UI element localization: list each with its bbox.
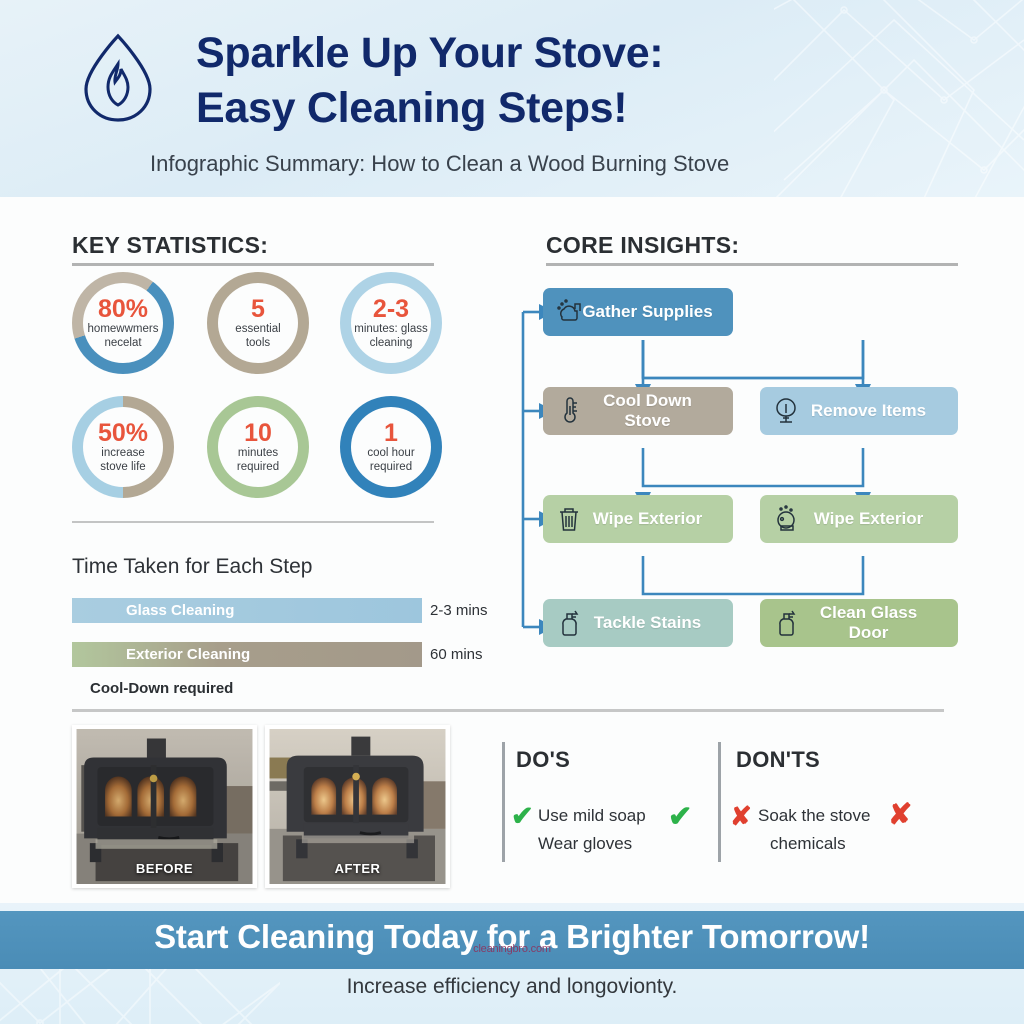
stat-donut-5-value: 1 [384,420,398,446]
stat-donut-2-value: 2-3 [373,296,409,322]
spray-bottle-icon [556,608,582,638]
chart-title: Time Taken for Each Step [72,555,312,579]
photo-before: BEFORE [72,725,257,888]
flow-step-cool-down-stove[interactable]: Cool Down Stove [543,387,733,435]
donts-divider [718,742,721,862]
dos-check-icon-right: ✔ [668,799,692,834]
flame-droplet-icon [78,32,158,124]
stat-donut-4: 10 minutes required [207,396,309,498]
bar-label-0: Glass Cleaning [126,598,234,623]
photo-after-caption: AFTER [269,861,446,876]
stat-donut-2-inner: 2-3 minutes: glass cleaning [351,283,431,363]
flow-step-wipe-exterior-right[interactable]: Wipe Exterior [760,495,958,543]
flow-step-tackle-stains-label: Tackle Stains [582,613,733,633]
stat-donut-3: 50% increase stove life [72,396,174,498]
stats-bottom-rule [72,521,434,523]
header-banner: Sparkle Up Your Stove: Easy Cleaning Ste… [0,0,1024,197]
stat-donut-0-label1: homewwmers [88,323,159,336]
stat-donut-2-label1: minutes: glass [354,323,428,336]
stat-donut-4-inner: 10 minutes required [218,407,298,487]
donts-cross-icon-right: ✘ [888,797,912,832]
page-title-line2: Easy Cleaning Steps! [196,81,986,136]
flow-step-wipe-exterior-left[interactable]: Wipe Exterior [543,495,733,543]
stat-donut-4-value: 10 [244,420,272,446]
page-title-line1: Sparkle Up Your Stove: [196,29,663,77]
bar-label-1: Exterior Cleaning [126,642,250,667]
stat-donut-1-label2: tools [246,337,270,350]
watermark: cleaningbro.com [0,943,1024,955]
flow-step-gather-supplies[interactable]: Gather Supplies [543,288,733,336]
bubble-sparkle-icon [773,504,799,534]
stat-donut-1-label1: essential [235,323,280,336]
stat-donut-3-label1: increase [101,447,144,460]
core-insights-rule [546,263,958,266]
dos-divider [502,742,505,862]
key-statistics-rule [72,263,434,266]
stat-donut-1-value: 5 [251,296,265,322]
stat-donut-0-value: 80% [98,296,148,322]
mid-divider-rule [72,709,944,712]
stat-donut-3-value: 50% [98,420,148,446]
lamp-icon [773,396,799,426]
sponge-sparkle-icon [556,297,582,327]
stat-donut-4-label1: minutes [238,447,278,460]
flow-step-wipe-exterior-left-label: Wipe Exterior [582,509,733,529]
stat-donut-5-inner: 1 cool hour required [351,407,431,487]
bar-row-0 [72,598,422,623]
donts-item-1: chemicals [770,834,846,854]
dos-item-0: Use mild soap [538,806,646,826]
flow-step-tackle-stains[interactable]: Tackle Stains [543,599,733,647]
dos-heading: DO'S [516,747,570,773]
bar-value-1: 60 mins [430,642,483,667]
flow-step-clean-glass-door-label: Clean Glass Door [799,603,958,643]
key-statistics-heading: KEY STATISTICS: [72,232,268,259]
stat-donut-0-label2: necelat [104,337,141,350]
donts-cross-icon-left: ✘ [730,801,752,832]
chart-note: Cool-Down required [90,680,233,697]
flow-step-gather-supplies-label: Gather Supplies [582,302,733,322]
stat-donut-5-label2: required [370,461,412,474]
trash-bin-icon [556,504,582,534]
stat-donut-0-inner: 80% homewwmers necelat [83,283,163,363]
stat-donut-1-inner: 5 essential tools [218,283,298,363]
flow-step-remove-items[interactable]: Remove Items [760,387,958,435]
page-subtitle: Infographic Summary: How to Clean a Wood… [150,151,910,177]
footer-subtext: Increase efficiency and longovionty. [0,975,1024,999]
dos-check-icon-left: ✔ [511,801,534,832]
flow-step-clean-glass-door[interactable]: Clean Glass Door [760,599,958,647]
photo-after: AFTER [265,725,450,888]
bar-value-0: 2-3 mins [430,598,488,623]
dos-item-1: Wear gloves [538,834,632,854]
page-title: Sparkle Up Your Stove: Easy Cleaning Ste… [196,26,986,136]
donts-heading: DON'TS [736,747,820,773]
flow-step-remove-items-label: Remove Items [799,401,958,421]
stat-donut-5-label1: cool hour [367,447,414,460]
donts-item-0: Soak the stove [758,806,870,826]
infographic-canvas: Sparkle Up Your Stove: Easy Cleaning Ste… [0,0,1024,1024]
stat-donut-2-label2: cleaning [370,337,413,350]
photo-before-caption: BEFORE [76,861,253,876]
stat-donut-2: 2-3 minutes: glass cleaning [340,272,442,374]
flow-step-cool-down-stove-label: Cool Down Stove [582,391,733,431]
stat-donut-4-label2: required [237,461,279,474]
stat-donut-3-inner: 50% increase stove life [83,407,163,487]
stat-donut-1: 5 essential tools [207,272,309,374]
spray-bottle-icon [773,608,799,638]
thermometer-icon [556,396,582,426]
flow-step-wipe-exterior-right-label: Wipe Exterior [799,509,958,529]
core-insights-heading: CORE INSIGHTS: [546,232,739,259]
stat-donut-3-label2: stove life [100,461,145,474]
stat-donut-5: 1 cool hour required [340,396,442,498]
stat-donut-0: 80% homewwmers necelat [72,272,174,374]
